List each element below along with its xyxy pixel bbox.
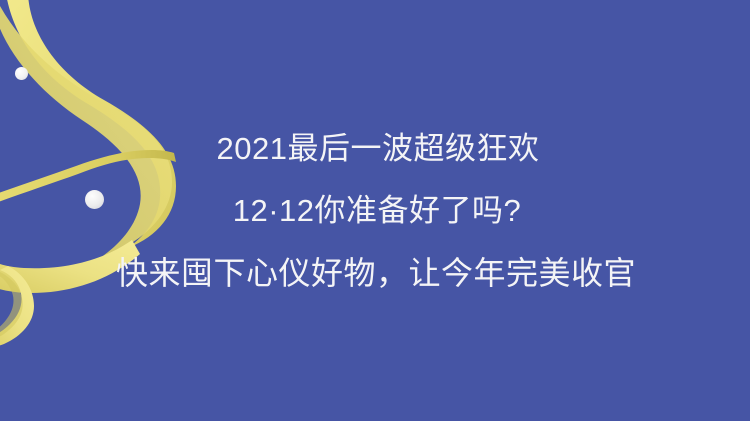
promo-banner: 2021最后一波超级狂欢 12·12你准备好了吗? 快来囤下心仪好物，让今年完美…: [0, 0, 750, 421]
headline-block: 2021最后一波超级狂欢 12·12你准备好了吗? 快来囤下心仪好物，让今年完美…: [0, 0, 750, 421]
headline-line-1: 2021最后一波超级狂欢: [217, 118, 540, 180]
headline-line-2: 12·12你准备好了吗?: [233, 180, 522, 242]
headline-line-3: 快来囤下心仪好物，让今年完美收官: [116, 242, 636, 304]
